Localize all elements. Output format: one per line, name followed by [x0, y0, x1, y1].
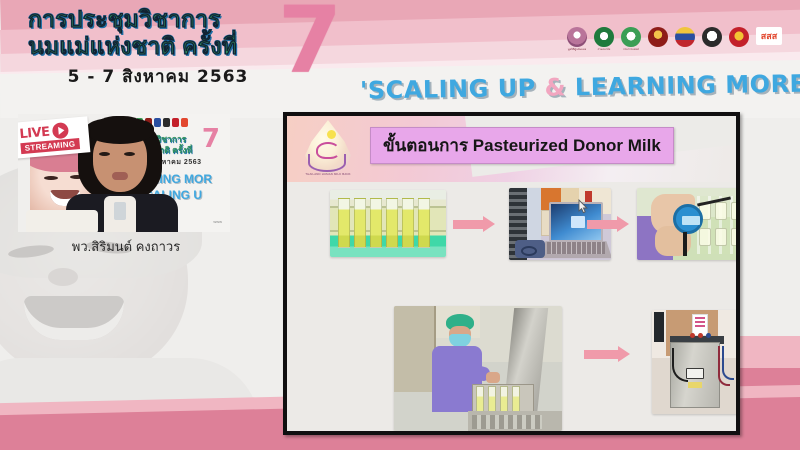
- presentation-slide-panel[interactable]: THAILAND HUMAN MILK BANK ขั้นตอนการ Past…: [283, 112, 740, 435]
- step-collected-milk-bottles: [330, 190, 446, 257]
- slide-title: ขั้นตอนการ Pasteurized Donor Milk: [370, 127, 674, 164]
- conference-title-line2: นมแม่แห่งชาติ ครั้งที่: [28, 33, 288, 60]
- milk-bank-logo-caption: THAILAND HUMAN MILK BANK: [297, 172, 359, 176]
- thaihealth-sss-logo: สสส: [755, 27, 783, 57]
- speaker-name-caption: พว.สิริมนต์ คงถาวร: [20, 236, 232, 257]
- university-emblem-logo: [701, 27, 723, 57]
- play-icon: [52, 122, 69, 139]
- thai-breastfeeding-foundation-logo: มูลนิธิศูนย์นมแม่: [566, 27, 588, 57]
- human-milk-bank-logo: THAILAND HUMAN MILK BANK: [297, 120, 359, 182]
- slogan-part-2: LEARNING MORE': [566, 69, 800, 101]
- presentation-screen: 7 การประชุมวิชาการ นมแม่แห่งชาติ ครั้งที…: [0, 0, 800, 450]
- poster-edition-number: 7: [202, 126, 220, 152]
- live-label: LIVE: [19, 124, 50, 142]
- nursing-council-logo: [728, 27, 750, 57]
- slogan-part-1: 'SCALING UP: [360, 74, 545, 105]
- royal-thai-government-logo: [674, 27, 696, 57]
- step-loading-pasteurizer-tray: [394, 306, 562, 431]
- conference-header-banner: 7 การประชุมวิชาการ นมแม่แห่งชาติ ครั้งที…: [0, 0, 800, 118]
- sponsor-logo-strip: มูลนิธิศูนย์นมแม่ กรมอนามัย กรมการแพทย์ …: [566, 27, 783, 57]
- arrow-step1-to-step2: [453, 216, 499, 232]
- speaker-paper-notes: [26, 210, 98, 232]
- department-of-health-logo: กรมการแพทย์: [620, 27, 642, 57]
- mouse-pointer-icon: [578, 199, 589, 214]
- slogan-ampersand: &: [544, 73, 566, 101]
- step-pasteurizer-machine: [652, 310, 740, 414]
- arrow-step4-to-step5: [584, 346, 640, 362]
- speaker-webcam-video[interactable]: การประชุมวิชาการ นมแม่แห่งชาติ ครั้งที่ …: [18, 114, 230, 232]
- poster-fine-print: www: [213, 219, 222, 224]
- step-temperature-measurement: [637, 188, 740, 260]
- conference-title-block: การประชุมวิชาการ นมแม่แห่งชาติ ครั้งที่ …: [28, 6, 288, 90]
- conference-dates: 5 - 7 สิงหาคม 2563: [28, 63, 288, 90]
- conference-title-line1: การประชุมวิชาการ: [28, 6, 288, 33]
- ministry-of-public-health-logo: กรมอนามัย: [593, 27, 615, 57]
- royal-college-of-pediatricians-logo: [647, 27, 669, 57]
- arrow-step2-to-step3: [587, 216, 633, 232]
